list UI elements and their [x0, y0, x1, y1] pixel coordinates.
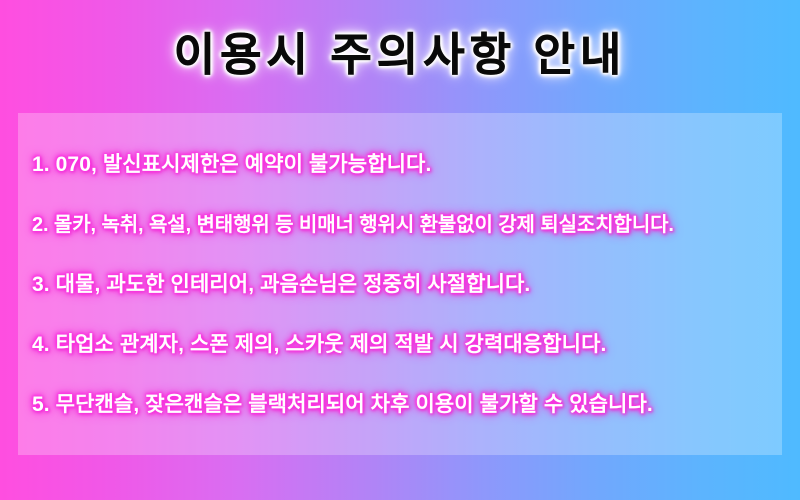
list-item: 1. 070, 발신표시제한은 예약이 불가능합니다. — [32, 150, 776, 180]
list-item: 3. 대물, 과도한 인테리어, 과음손님은 정중히 사절합니다. — [32, 270, 776, 300]
page-title: 이용시 주의사항 안내 — [0, 26, 800, 84]
list-item: 5. 무단캔슬, 잦은캔슬은 블랙처리되어 차후 이용이 불가할 수 있습니다. — [32, 390, 776, 420]
list-item: 2. 몰카, 녹취, 욕설, 변태행위 등 비매너 행위시 환불없이 강제 퇴실… — [32, 210, 776, 240]
notice-panel: 1. 070, 발신표시제한은 예약이 불가능합니다. 2. 몰카, 녹취, 욕… — [18, 113, 782, 455]
notice-list: 1. 070, 발신표시제한은 예약이 불가능합니다. 2. 몰카, 녹취, 욕… — [18, 113, 782, 455]
list-item: 4. 타업소 관계자, 스폰 제의, 스카웃 제의 적발 시 강력대응합니다. — [32, 330, 776, 360]
notice-banner: 이용시 주의사항 안내 1. 070, 발신표시제한은 예약이 불가능합니다. … — [0, 0, 800, 500]
